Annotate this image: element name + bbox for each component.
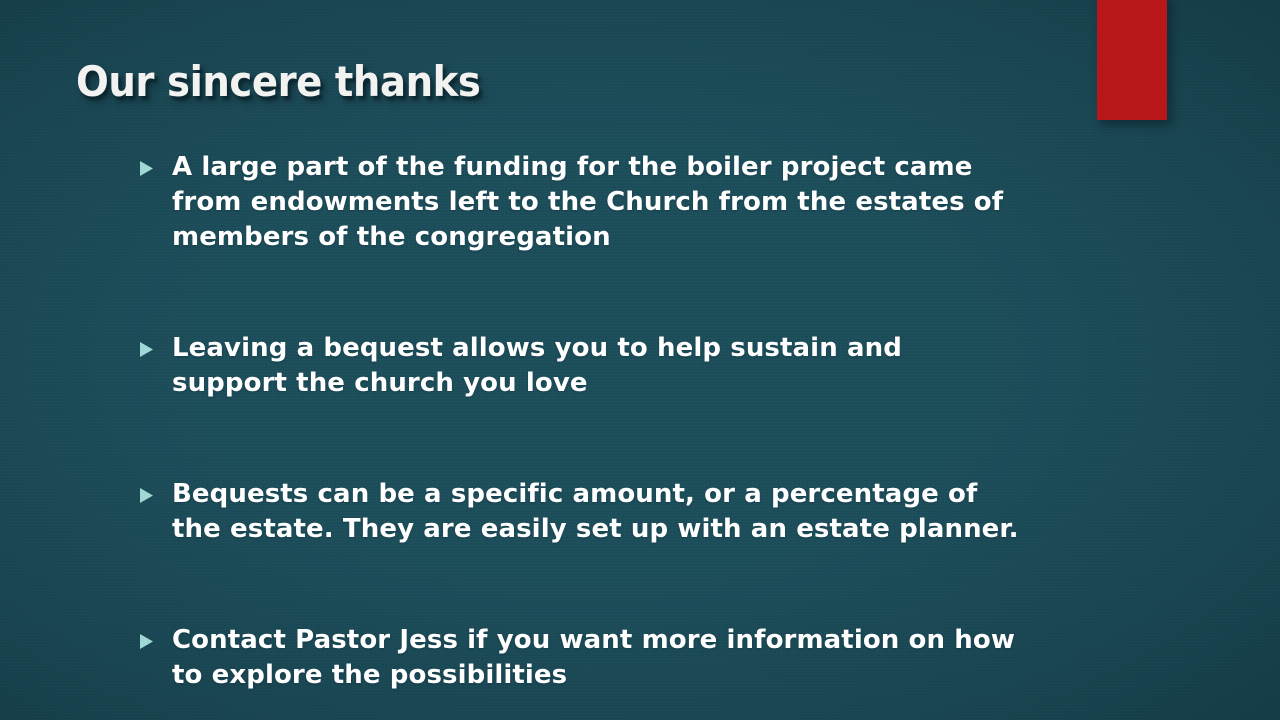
list-item-text: Bequests can be a specific amount, or a … <box>172 477 1024 547</box>
triangle-right-bullet-icon <box>137 477 172 505</box>
slide-body: A large part of the funding for the boil… <box>137 150 1027 693</box>
list-item-text: Leaving a bequest allows you to help sus… <box>172 331 1024 401</box>
list-item: Leaving a bequest allows you to help sus… <box>137 331 1027 401</box>
list-item: Bequests can be a specific amount, or a … <box>137 477 1027 547</box>
list-item: Contact Pastor Jess if you want more inf… <box>137 623 1027 693</box>
list-item-text: A large part of the funding for the boil… <box>172 150 1024 255</box>
triangle-right-bullet-icon <box>137 331 172 359</box>
page-title: Our sincere thanks <box>76 57 480 107</box>
red-accent-block <box>1097 0 1167 120</box>
presentation-slide: Our sincere thanks A large part of the f… <box>0 0 1280 720</box>
triangle-right-bullet-icon <box>137 150 172 178</box>
list-item: A large part of the funding for the boil… <box>137 150 1027 255</box>
list-item-text: Contact Pastor Jess if you want more inf… <box>172 623 1024 693</box>
triangle-right-bullet-icon <box>137 623 172 651</box>
